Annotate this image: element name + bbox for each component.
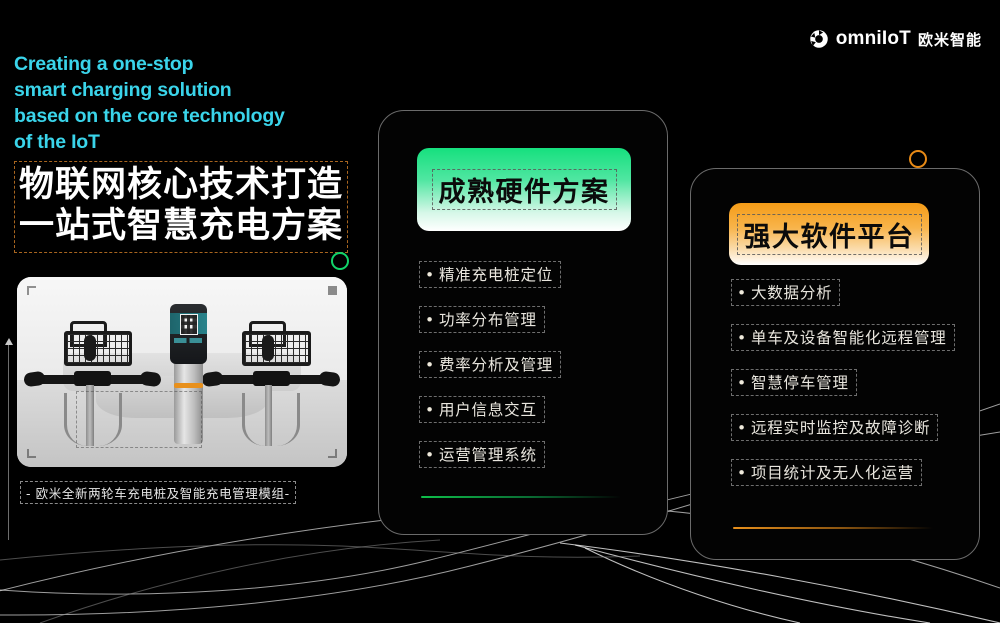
- bullet-dot-icon: •: [425, 401, 435, 419]
- bullet-dot-icon: •: [737, 419, 747, 437]
- ebike-basket: [64, 331, 133, 366]
- photo-corner-mark-bl: [27, 449, 36, 458]
- list-item[interactable]: •智慧停车管理: [691, 369, 979, 414]
- photo-ebike-right: [205, 328, 337, 446]
- photo-corner-mark-tl: [27, 286, 36, 295]
- card-hardware[interactable]: 成熟硬件方案 •精准充电桩定位 •功率分布管理 •费率分析及管理 •用户信息交互…: [378, 110, 668, 535]
- bullet-dot-icon: •: [425, 266, 435, 284]
- list-item[interactable]: •运营管理系统: [379, 441, 667, 486]
- headline-chinese-box: 物联网核心技术打造 一站式智慧充电方案: [14, 161, 348, 253]
- list-item[interactable]: •精准充电桩定位: [379, 261, 667, 306]
- qr-code-icon: [180, 314, 198, 335]
- bullet-label: 功率分布管理: [439, 311, 537, 329]
- bullet-label: 项目统计及无人化运营: [751, 464, 914, 482]
- ebike-console: [253, 371, 290, 386]
- card-software[interactable]: 强大软件平台 •大数据分析 •单车及设备智能化远程管理 •智慧停车管理 •远程实…: [690, 168, 980, 560]
- list-item[interactable]: •大数据分析: [691, 279, 979, 324]
- bullet-dot-icon: •: [425, 356, 435, 374]
- card-software-bullet-list: •大数据分析 •单车及设备智能化远程管理 •智慧停车管理 •远程实时监控及故障诊…: [691, 279, 979, 504]
- ebike-grip-left: [23, 370, 46, 387]
- omni-logo-icon: [809, 29, 829, 49]
- bullet-dot-icon: •: [425, 446, 435, 464]
- brand-wordmark-cn: 欧米智能: [918, 29, 982, 50]
- bullet-label: 单车及设备智能化远程管理: [751, 329, 947, 347]
- orange-ring-marker: [909, 150, 927, 168]
- bullet-label: 运营管理系统: [439, 446, 537, 464]
- charging-pillar-accent-band: [174, 383, 204, 388]
- product-photo-charging-station: [17, 277, 347, 467]
- ebike-seat: [262, 335, 274, 361]
- photo-corner-mark-br: [328, 449, 337, 458]
- card-hardware-bullet-list: •精准充电桩定位 •功率分布管理 •费率分析及管理 •用户信息交互 •运营管理系…: [379, 261, 667, 486]
- card-hardware-header: 成熟硬件方案: [417, 148, 631, 231]
- headline-english: Creating a one-stop smart charging solut…: [14, 52, 348, 156]
- bullet-dot-icon: •: [737, 464, 747, 482]
- headline-block: Creating a one-stop smart charging solut…: [14, 52, 348, 253]
- ebike-basket: [242, 331, 311, 366]
- bullet-dot-icon: •: [425, 311, 435, 329]
- photo-corner-mark-tr: [328, 286, 337, 295]
- ebike-seat: [84, 335, 96, 361]
- photo-caption: - 欧米全新两轮车充电桩及智能充电管理模组-: [20, 481, 296, 504]
- list-item[interactable]: •功率分布管理: [379, 306, 667, 351]
- photo-selection-dashbox: [76, 391, 201, 448]
- brand-wordmark: omniIoT: [836, 28, 911, 50]
- bullet-label: 精准充电桩定位: [439, 266, 553, 284]
- bullet-label: 用户信息交互: [439, 401, 537, 419]
- brand-logo: omniIoT 欧米智能: [809, 28, 982, 50]
- bullet-dot-icon: •: [737, 284, 747, 302]
- card-software-accent-underline: [733, 527, 933, 529]
- headline-chinese: 物联网核心技术打造 一站式智慧充电方案: [19, 165, 343, 248]
- card-hardware-title: 成熟硬件方案: [439, 177, 610, 208]
- list-item[interactable]: •费率分析及管理: [379, 351, 667, 396]
- list-item[interactable]: •用户信息交互: [379, 396, 667, 441]
- charging-pillar-buttons: [174, 338, 202, 344]
- ebike-grip-right: [318, 370, 341, 387]
- list-item[interactable]: •单车及设备智能化远程管理: [691, 324, 979, 369]
- left-axis-arrow-icon: [8, 344, 9, 540]
- card-software-header: 强大软件平台: [729, 203, 929, 265]
- ebike-fork: [242, 393, 300, 446]
- card-software-title: 强大软件平台: [744, 222, 915, 253]
- bullet-dot-icon: •: [737, 329, 747, 347]
- bullet-dot-icon: •: [737, 374, 747, 392]
- green-ring-marker: [331, 252, 349, 270]
- bullet-label: 费率分析及管理: [439, 356, 553, 374]
- list-item[interactable]: •远程实时监控及故障诊断: [691, 414, 979, 459]
- bullet-label: 大数据分析: [751, 284, 833, 302]
- ebike-grip-left: [202, 370, 225, 387]
- bullet-label: 智慧停车管理: [751, 374, 849, 392]
- ebike-console: [74, 371, 111, 386]
- card-hardware-title-box: 成熟硬件方案: [432, 169, 617, 210]
- list-item[interactable]: •项目统计及无人化运营: [691, 459, 979, 504]
- card-hardware-accent-underline: [421, 496, 621, 498]
- card-software-title-box: 强大软件平台: [737, 214, 922, 255]
- bullet-label: 远程实时监控及故障诊断: [751, 419, 930, 437]
